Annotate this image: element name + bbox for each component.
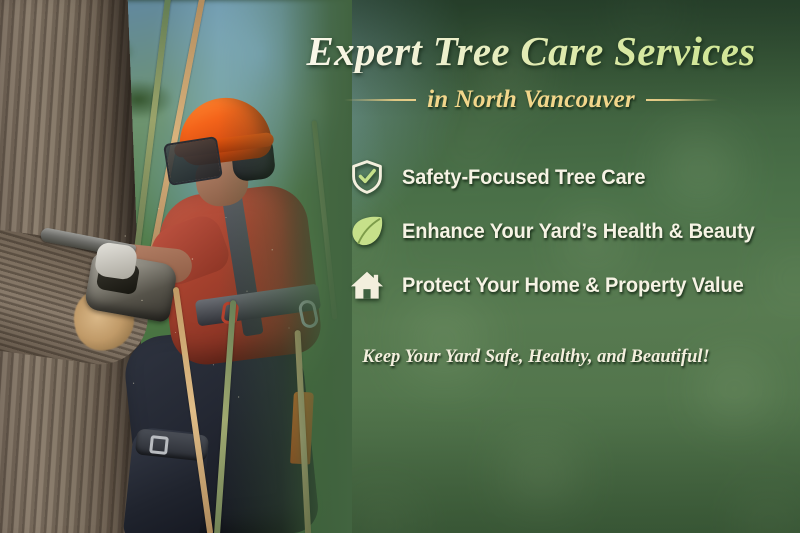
feature-label: Safety-Focused Tree Care	[402, 165, 645, 190]
tree-care-banner: Expert Tree Care Services in North Vanco…	[0, 0, 800, 533]
subtitle-rule-right	[646, 99, 718, 101]
subtitle: in North Vancouver	[427, 86, 635, 114]
feature-label: Enhance Your Yard’s Health & Beauty	[402, 219, 755, 244]
tagline: Keep Your Yard Safe, Healthy, and Beauti…	[262, 347, 800, 368]
feature-item-health: Enhance Your Yard’s Health & Beauty	[350, 204, 800, 258]
subtitle-rule-left	[344, 99, 416, 101]
shield-check-icon	[350, 159, 384, 195]
feature-list: Safety-Focused Tree Care Enhance Your Ya…	[350, 150, 800, 312]
page-title: Expert Tree Care Services	[262, 30, 800, 73]
home-icon	[350, 267, 384, 303]
feature-item-property: Protect Your Home & Property Value	[350, 258, 800, 312]
subtitle-row: in North Vancouver	[262, 86, 800, 114]
feature-label: Protect Your Home & Property Value	[402, 273, 744, 298]
leaf-icon	[350, 213, 384, 249]
feature-item-safety: Safety-Focused Tree Care	[350, 150, 800, 204]
banner-content: Expert Tree Care Services in North Vanco…	[262, 0, 800, 533]
